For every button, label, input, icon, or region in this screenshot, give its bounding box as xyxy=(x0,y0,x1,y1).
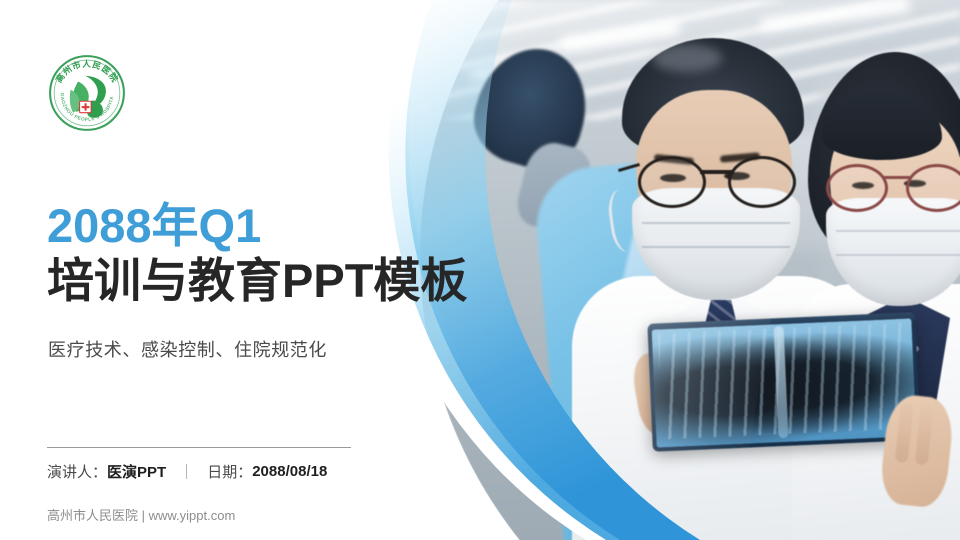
cover-content: 高州市人民医院 GAOZHOU PEOPLE'S HOSPITAL 2088年Q… xyxy=(0,0,420,540)
date-value: 2088/08/18 xyxy=(252,463,327,480)
title-line-year: 2088年Q1 xyxy=(47,198,467,253)
glasses-arm xyxy=(618,163,640,172)
chest-xray-film xyxy=(647,312,920,452)
page-title: 2088年Q1 培训与教育PPT模板 xyxy=(47,198,467,309)
meta-info: 演讲人： 医演PPT 日期： 2088/08/18 xyxy=(47,461,327,482)
hair-fringe xyxy=(822,92,942,160)
presenter-label: 演讲人： xyxy=(47,461,107,482)
logo-red-cross-icon xyxy=(80,101,91,112)
eyeglasses xyxy=(636,156,798,202)
lens-left xyxy=(826,164,888,212)
divider xyxy=(47,447,351,448)
meta-separator xyxy=(186,464,187,479)
presenter-value: 医演PPT xyxy=(107,461,166,482)
date-label: 日期： xyxy=(207,461,252,482)
glasses-bridge xyxy=(700,170,734,174)
footer-text: 高州市人民医院 | www.yippt.com xyxy=(47,505,235,524)
subtitle: 医疗技术、感染控制、住院规范化 xyxy=(48,336,327,362)
eyeglasses xyxy=(826,164,960,206)
lens-right xyxy=(906,164,960,212)
glasses-bridge xyxy=(883,176,911,179)
ppt-cover-slide: 高州市人民医院 GAOZHOU PEOPLE'S HOSPITAL 2088年Q… xyxy=(0,0,960,540)
lens-right xyxy=(728,156,796,208)
hospital-logo: 高州市人民医院 GAOZHOU PEOPLE'S HOSPITAL xyxy=(46,52,128,134)
lens-left xyxy=(638,156,706,208)
title-line-main: 培训与教育PPT模板 xyxy=(47,253,467,308)
